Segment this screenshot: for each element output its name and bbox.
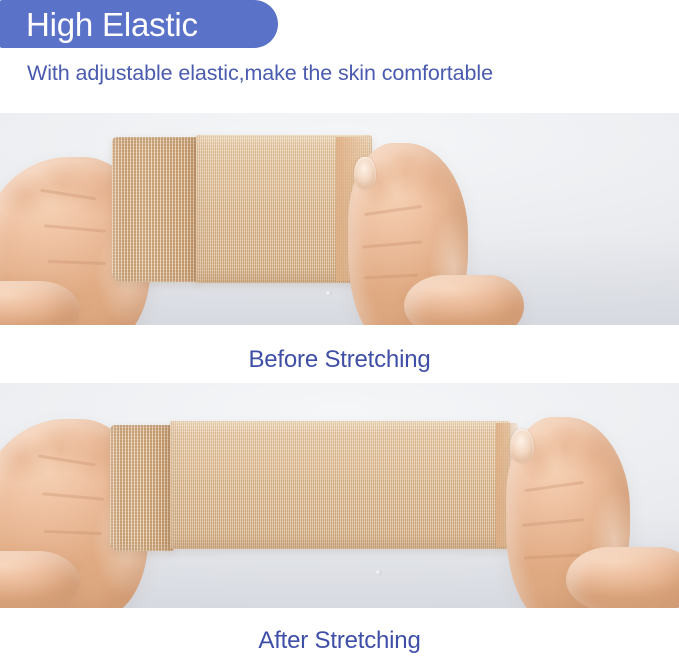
photo-before-stretching — [0, 113, 679, 325]
right-wrist — [404, 275, 524, 325]
bandage-strip-after — [170, 421, 510, 549]
bandage-roll-after — [110, 425, 174, 551]
right-thumb-nail — [510, 429, 534, 463]
title-badge-label: High Elastic — [0, 8, 198, 41]
photo-after-stretching — [0, 383, 679, 608]
bandage-roll-before — [112, 137, 200, 282]
right-thumb-nail — [354, 157, 376, 189]
caption-before-stretching: Before Stretching — [0, 345, 679, 375]
right-wrist — [566, 547, 679, 608]
title-badge: High Elastic — [0, 0, 278, 48]
surface-speck — [375, 570, 382, 575]
subtitle-text: With adjustable elastic,make the skin co… — [27, 60, 493, 86]
caption-after-stretching: After Stretching — [0, 626, 679, 656]
surface-speck — [325, 291, 332, 296]
header: High Elastic With adjustable elastic,mak… — [0, 0, 679, 110]
